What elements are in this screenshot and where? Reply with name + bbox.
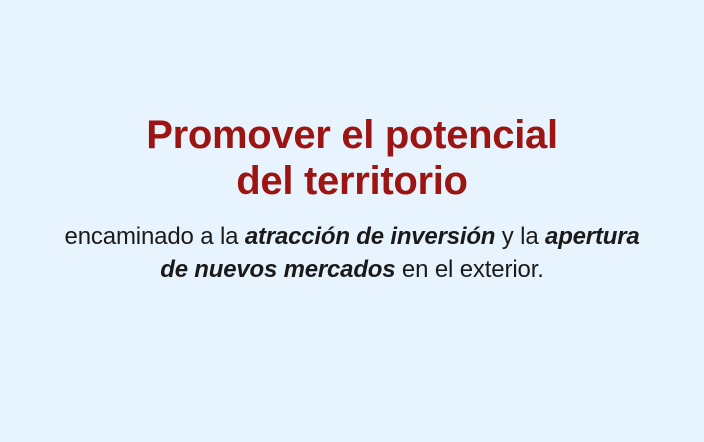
body-paragraph: encaminado a la atracción de inversión y…: [62, 220, 642, 286]
body-segment-plain-3: en el exterior.: [395, 256, 543, 283]
slide-canvas: Promover el potencial del territorio enc…: [0, 0, 704, 442]
body-segment-plain-1: encaminado a la: [65, 223, 245, 250]
body-segment-emphasis-1: atracción de inversión: [245, 223, 495, 250]
page-title-line-1: Promover el potencial: [0, 112, 704, 158]
page-title: Promover el potencial del territorio: [0, 112, 704, 204]
page-title-line-2: del territorio: [0, 158, 704, 204]
body-segment-plain-2: y la: [495, 223, 545, 250]
